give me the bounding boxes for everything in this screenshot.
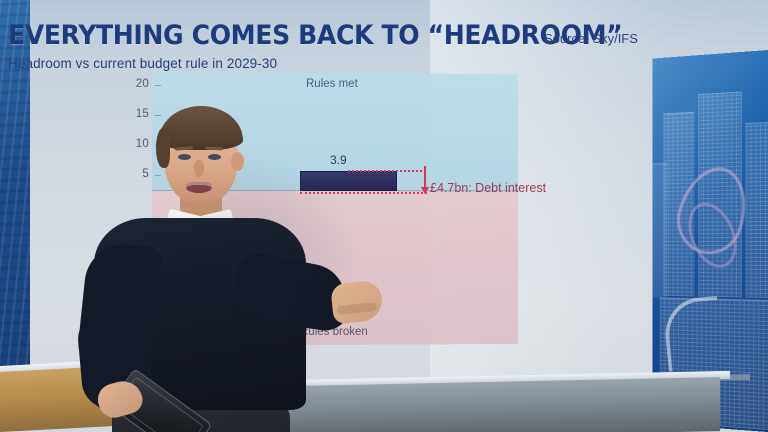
broadcast-screenshot: 20 15 10 5 Rules met Rules broken 3.9 £4…: [0, 0, 768, 432]
headline-subtitle: Headroom vs current budget rule in 2029-…: [8, 56, 277, 71]
presenter-nose: [194, 160, 204, 177]
headline-title: EVERYTHING COMES BACK TO “HEADROOM”: [8, 22, 622, 50]
y-tick-mark: [155, 85, 161, 86]
annotation-dotted-top: [348, 170, 426, 172]
presenter-hair: [159, 106, 243, 150]
presenter-ear: [231, 152, 244, 171]
down-arrow-icon: [424, 170, 426, 188]
presenter: [28, 104, 328, 432]
y-tick-label: 20: [119, 78, 149, 90]
annotation-label: £4.7bn: Debt interest: [430, 181, 546, 195]
presenter-hair-side: [156, 128, 170, 168]
presenter-mouth: [186, 182, 212, 193]
bar-value-label: 3.9: [330, 153, 347, 167]
presenter-eye-right: [208, 154, 221, 160]
presenter-eye-left: [178, 154, 191, 160]
source-credit: Source: Sky/IFS: [544, 31, 638, 46]
zone-label-rules-met: Rules met: [306, 78, 358, 90]
